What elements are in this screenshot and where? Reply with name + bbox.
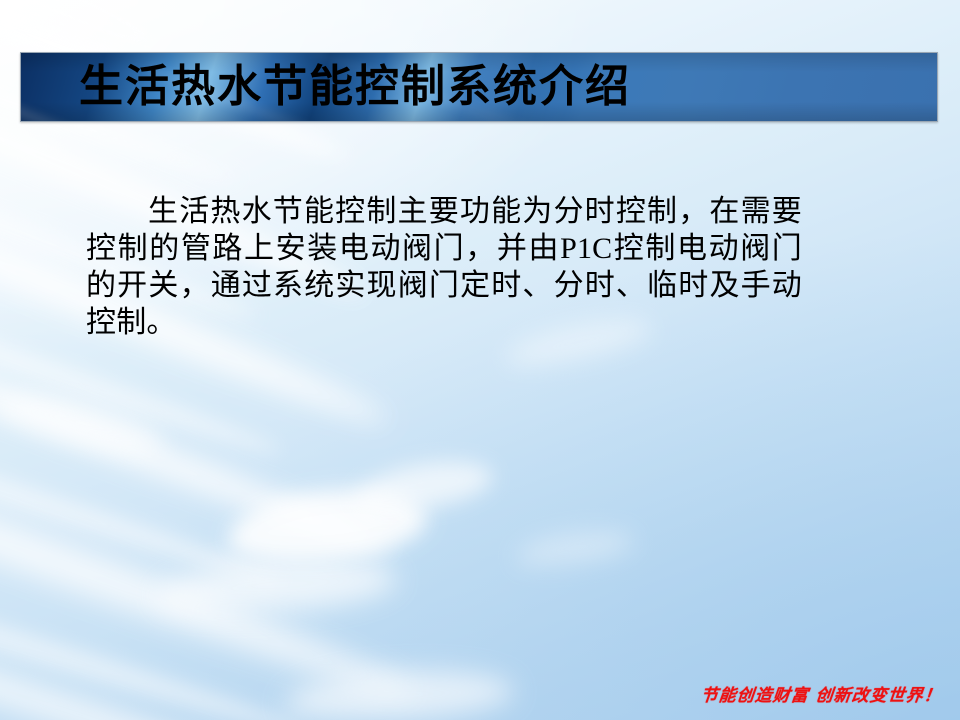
- body-text-block: 生活热水节能控制主要功能为分时控制，在需要控制的管路上安装电动阀门，并由P1C控…: [86, 193, 802, 341]
- footer-slogan: 节能创造财富 创新改变世界！: [700, 681, 944, 706]
- slide-canvas: 生活热水节能控制系统介绍 生活热水节能控制主要功能为分时控制，在需要控制的管路上…: [0, 0, 960, 720]
- body-paragraph: 生活热水节能控制主要功能为分时控制，在需要控制的管路上安装电动阀门，并由P1C控…: [86, 193, 802, 341]
- light-streak: [20, 112, 89, 122]
- title-banner: 生活热水节能控制系统介绍: [20, 52, 938, 122]
- slide-title: 生活热水节能控制系统介绍: [79, 65, 631, 109]
